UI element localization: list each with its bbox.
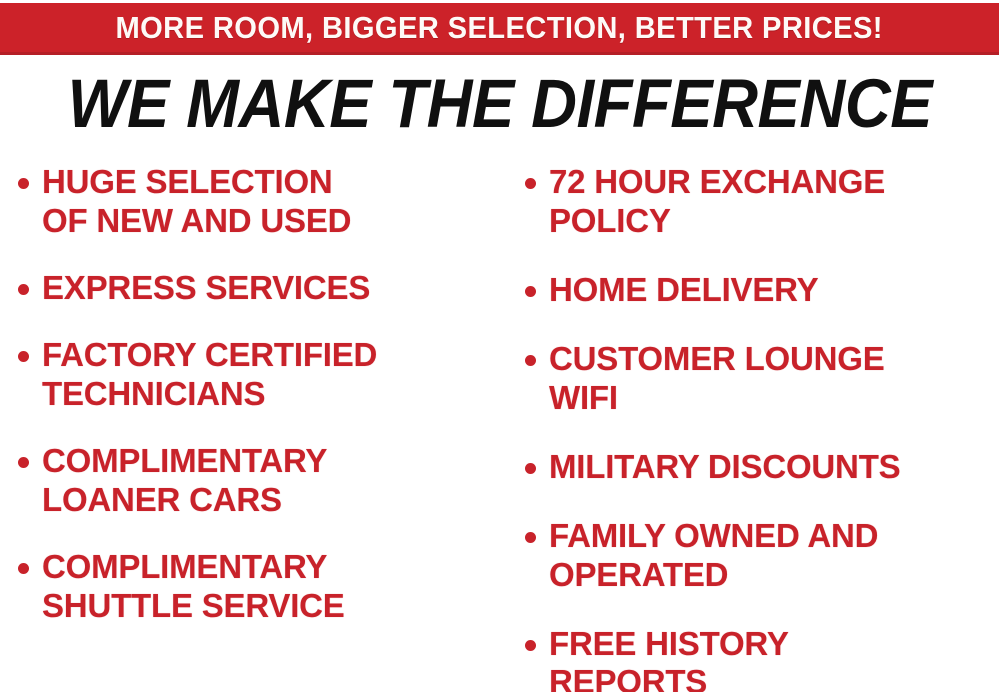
benefits-column-left: HUGE SELECTION OF NEW AND USED EXPRESS S…: [0, 155, 505, 692]
list-item-label: MILITARY DISCOUNTS: [549, 448, 900, 487]
list-item: FACTORY CERTIFIED TECHNICIANS: [18, 336, 505, 414]
list-item-label: 72 HOUR EXCHANGE POLICY: [549, 163, 885, 241]
list-item: EXPRESS SERVICES: [18, 269, 505, 308]
promo-banner-text: MORE ROOM, BIGGER SELECTION, BETTER PRIC…: [116, 12, 883, 43]
bullet-dot-icon: [18, 563, 29, 574]
list-item-label: FAMILY OWNED AND OPERATED: [549, 517, 878, 595]
benefits-column-right: 72 HOUR EXCHANGE POLICY HOME DELIVERY CU…: [505, 155, 999, 692]
list-item-label: EXPRESS SERVICES: [42, 269, 370, 308]
bullet-dot-icon: [18, 351, 29, 362]
list-item: FAMILY OWNED AND OPERATED: [525, 517, 999, 595]
list-item: HUGE SELECTION OF NEW AND USED: [18, 163, 505, 241]
bullet-dot-icon: [525, 640, 536, 651]
list-item: COMPLIMENTARY SHUTTLE SERVICE: [18, 548, 505, 626]
headline: WE MAKE THE DIFFERENCE: [0, 63, 999, 143]
list-item-label: COMPLIMENTARY LOANER CARS: [42, 442, 327, 520]
benefits-columns: HUGE SELECTION OF NEW AND USED EXPRESS S…: [0, 155, 999, 692]
list-item: CUSTOMER LOUNGE WIFI: [525, 340, 999, 418]
list-item: HOME DELIVERY: [525, 271, 999, 310]
list-item-label: HOME DELIVERY: [549, 271, 818, 310]
list-item-label: CUSTOMER LOUNGE WIFI: [549, 340, 885, 418]
bullet-dot-icon: [18, 284, 29, 295]
list-item: COMPLIMENTARY LOANER CARS: [18, 442, 505, 520]
bullet-dot-icon: [525, 532, 536, 543]
advertisement-banner: MORE ROOM, BIGGER SELECTION, BETTER PRIC…: [0, 0, 999, 692]
list-item-label: FACTORY CERTIFIED TECHNICIANS: [42, 336, 377, 414]
headline-text: WE MAKE THE DIFFERENCE: [67, 69, 931, 138]
list-item: 72 HOUR EXCHANGE POLICY: [525, 163, 999, 241]
bullet-dot-icon: [525, 355, 536, 366]
bullet-dot-icon: [18, 178, 29, 189]
list-item: FREE HISTORY REPORTS: [525, 625, 999, 692]
bullet-dot-icon: [525, 286, 536, 297]
list-item-label: HUGE SELECTION OF NEW AND USED: [42, 163, 351, 241]
list-item: MILITARY DISCOUNTS: [525, 448, 999, 487]
bullet-dot-icon: [525, 178, 536, 189]
bullet-dot-icon: [18, 457, 29, 468]
bullet-dot-icon: [525, 463, 536, 474]
promo-banner: MORE ROOM, BIGGER SELECTION, BETTER PRIC…: [0, 3, 999, 55]
list-item-label: FREE HISTORY REPORTS: [549, 625, 789, 692]
list-item-label: COMPLIMENTARY SHUTTLE SERVICE: [42, 548, 345, 626]
